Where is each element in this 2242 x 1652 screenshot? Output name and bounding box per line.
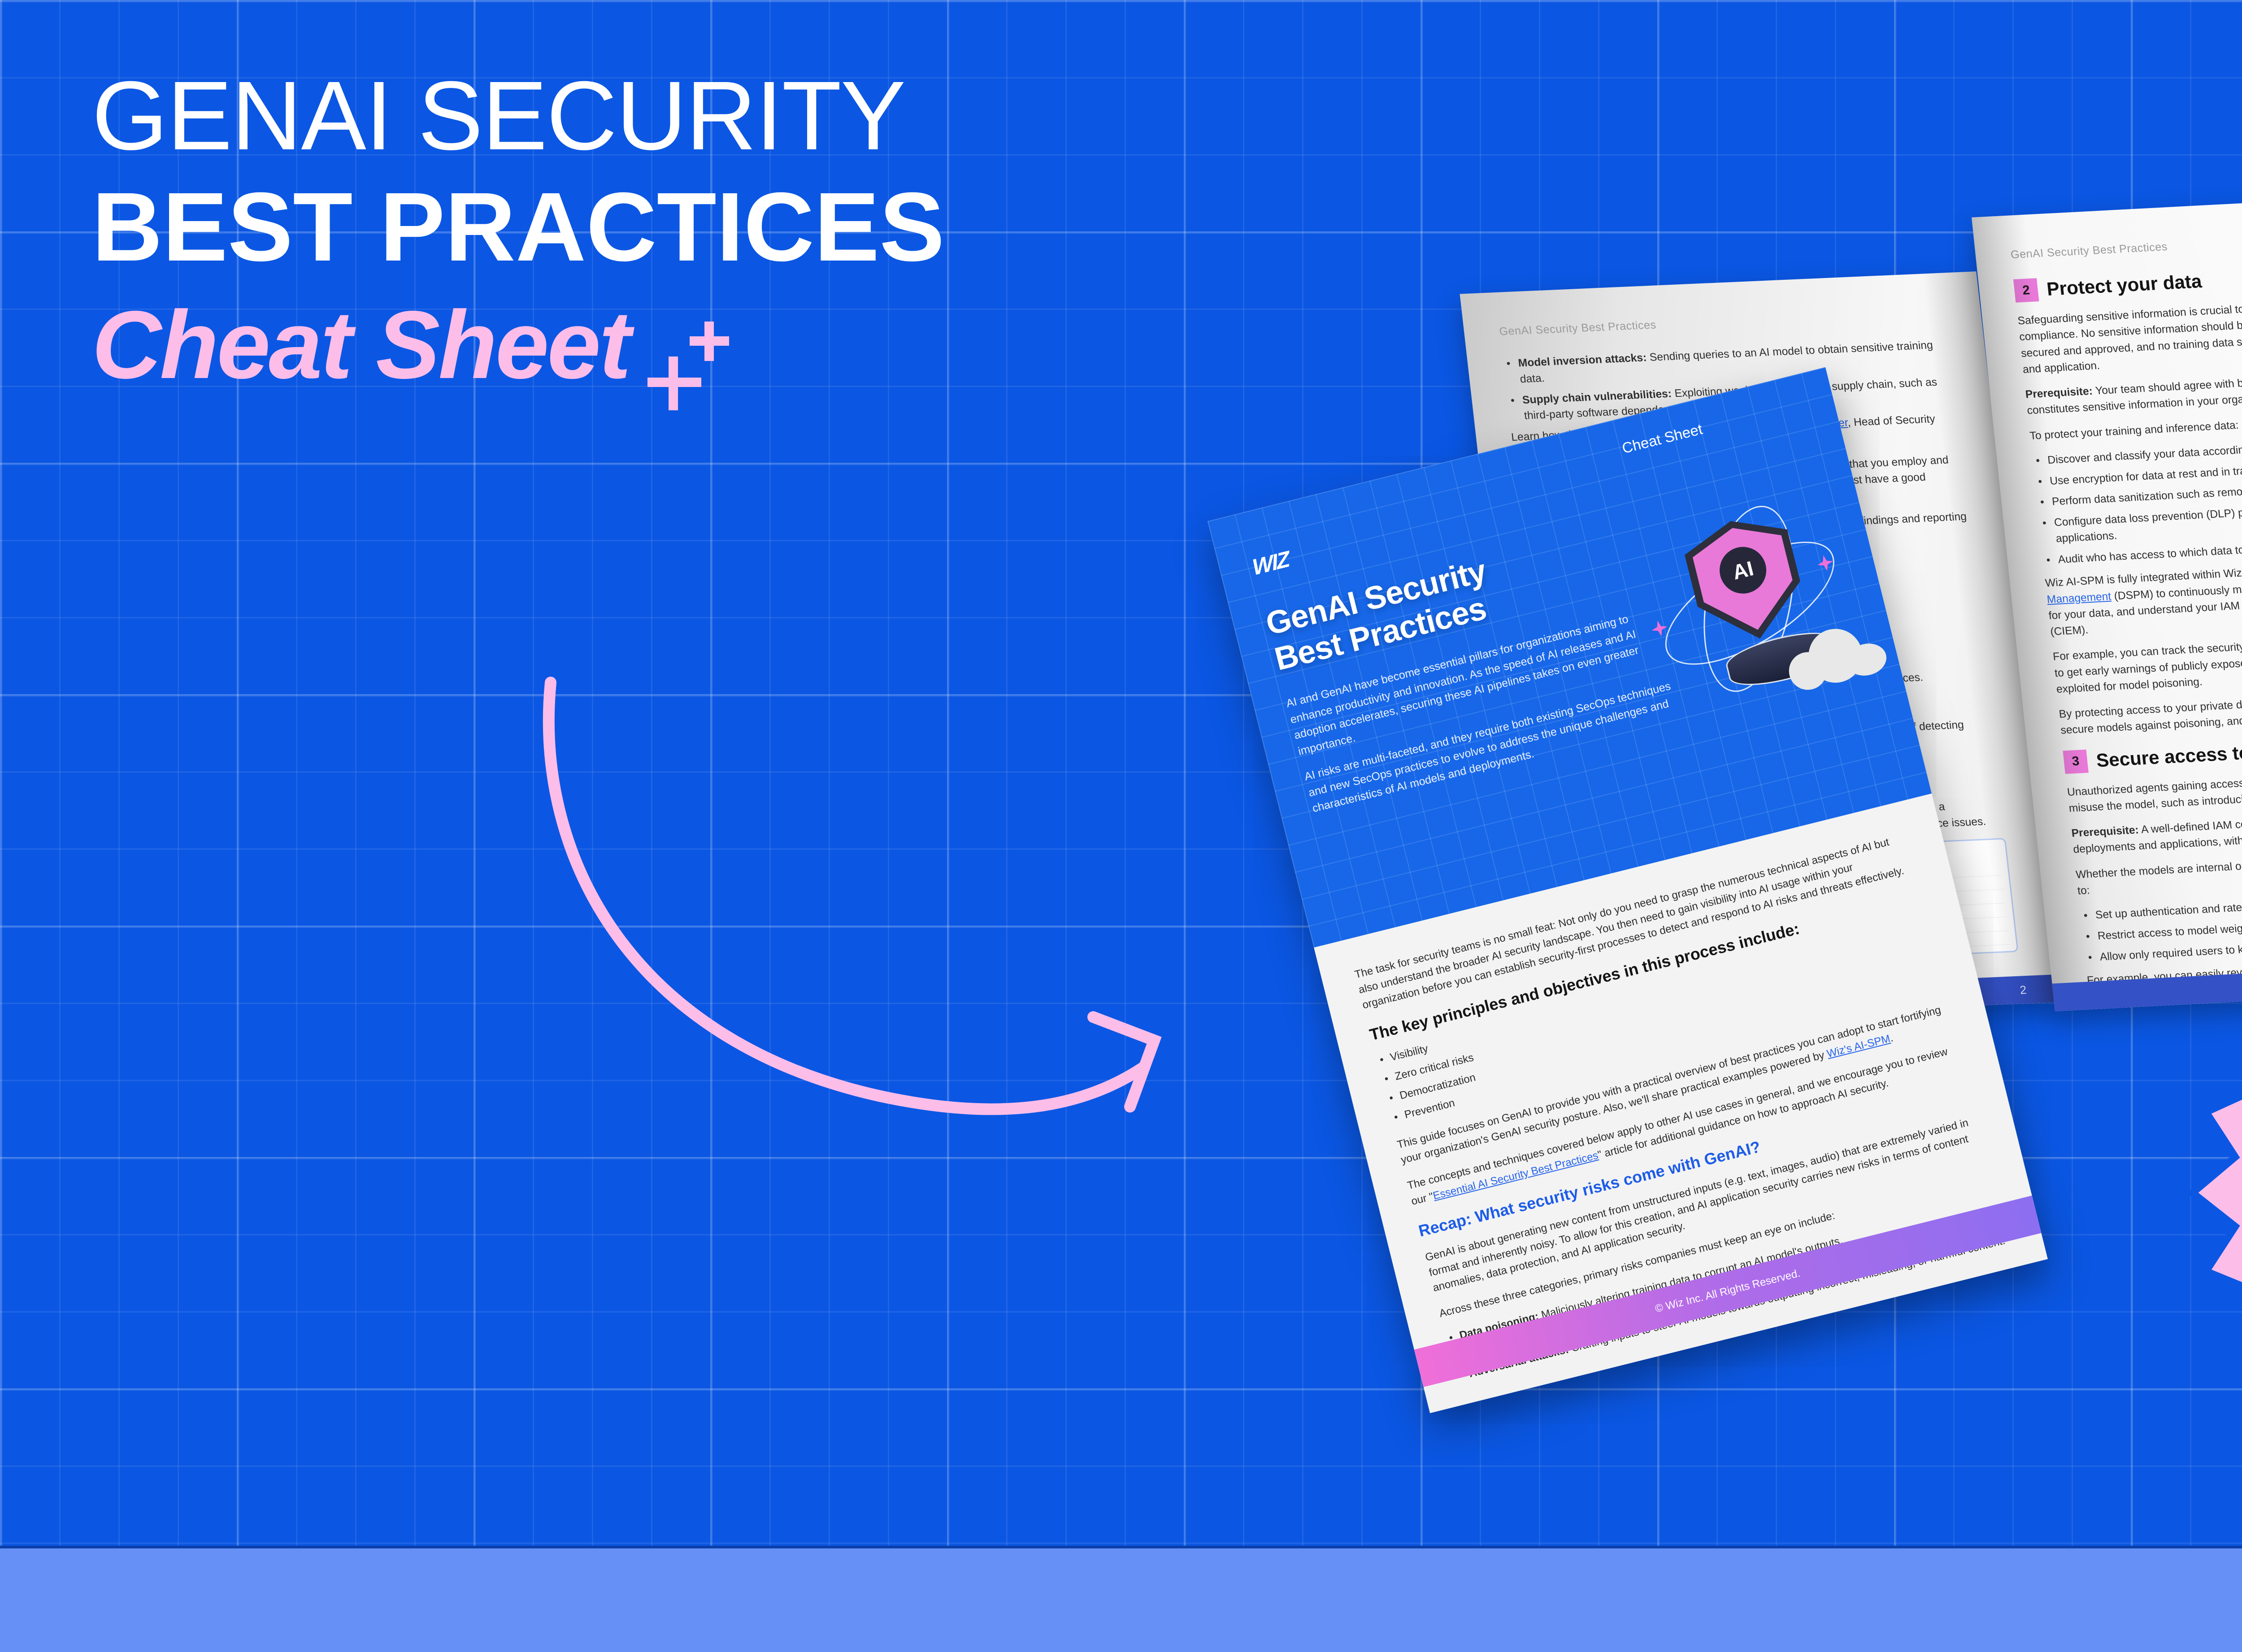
poster-canvas: GENAI SECURITY BEST PRACTICES Cheat Shee… xyxy=(0,0,2242,1652)
prerequisite-term: Prerequisite: xyxy=(2025,385,2094,401)
headline-line-2: BEST PRACTICES xyxy=(92,178,1437,276)
section-title: Secure access to GenAI models xyxy=(2095,735,2242,771)
bullet-term: Supply chain vulnerabilities: xyxy=(1522,387,1673,406)
page-number: 2 xyxy=(2019,983,2027,997)
sparkle-small-vertical xyxy=(704,322,714,361)
headline-line-1: GENAI SECURITY xyxy=(92,67,1437,165)
headline-script-text: Cheat Sheet xyxy=(92,294,630,396)
sparkle-decoration xyxy=(641,315,744,418)
section-title: Protect your data xyxy=(2046,270,2203,300)
book-scene: GenAI Security Best Practices Model inve… xyxy=(1390,179,2242,1547)
cloud-icon xyxy=(1778,623,1886,695)
bullet-term: Model inversion attacks: xyxy=(1517,352,1647,369)
running-head-right: GenAI Security Best Practices xyxy=(2010,222,2242,261)
section-header-2: 2 Protect your data xyxy=(2013,252,2242,303)
sparkle-icon xyxy=(1286,543,1296,555)
headline-block: GENAI SECURITY BEST PRACTICES Cheat Shee… xyxy=(92,67,1437,418)
running-head-left: GenAI Security Best Practices xyxy=(1499,306,1947,338)
starburst-shape xyxy=(2161,924,2242,1596)
bottom-accent-bar xyxy=(0,1546,2242,1652)
must-have-resource-badge: A MUST-HAVE RESOURCE! xyxy=(2161,924,2242,1596)
prerequisite-term: Prerequisite: xyxy=(2071,824,2139,840)
headline-script-row: Cheat Sheet xyxy=(92,294,1437,418)
section-number-badge: 3 xyxy=(2063,749,2088,774)
curved-arrow-icon xyxy=(484,646,1300,1175)
section-number-badge: 2 xyxy=(2013,278,2039,302)
sparkle-large-vertical xyxy=(669,356,678,410)
